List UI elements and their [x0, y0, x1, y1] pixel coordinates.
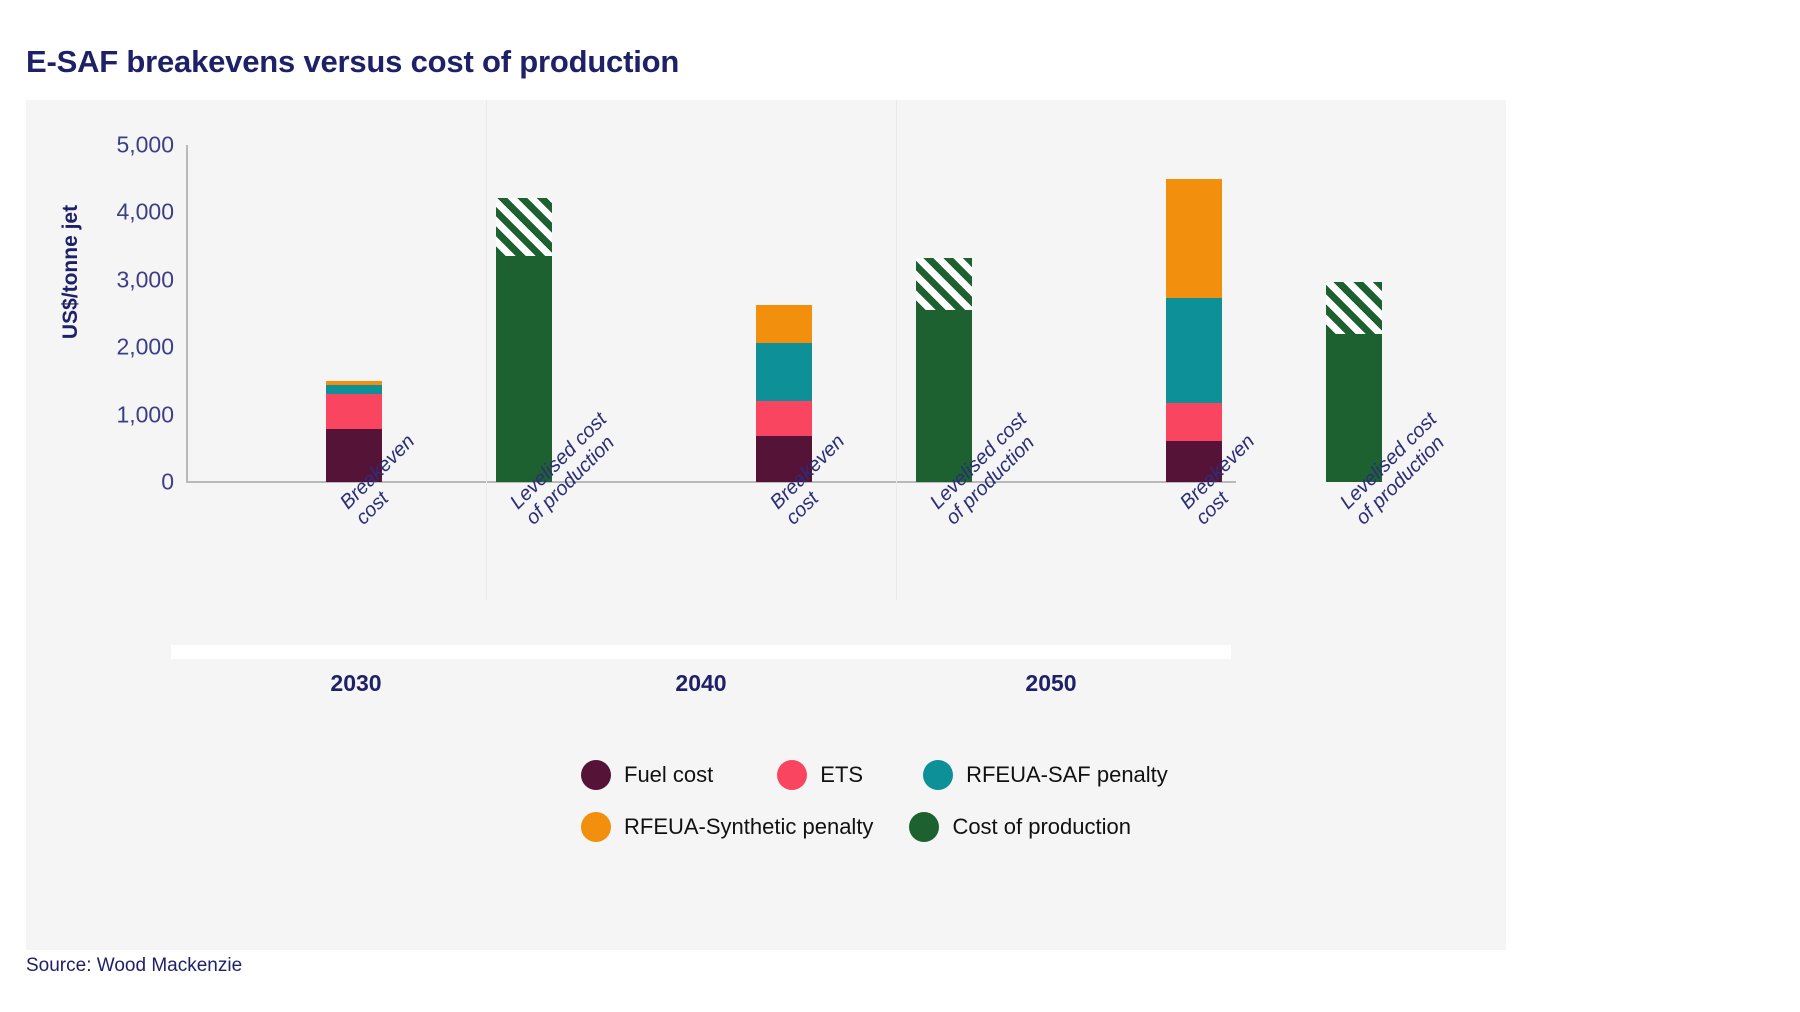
- bar-2030-levelised-cost-of-production[interactable]: [496, 198, 552, 482]
- legend-swatch-rfeua_synthetic-icon: [581, 812, 611, 842]
- legend-item-ets[interactable]: ETS: [777, 760, 863, 790]
- legend-swatch-rfeua_saf-icon: [923, 760, 953, 790]
- legend-label: RFEUA-Synthetic penalty: [624, 814, 873, 840]
- bar-segment-rfeua_saf[interactable]: [756, 343, 812, 401]
- y-axis-ticks: 5,0004,0003,0002,0001,0000: [74, 100, 174, 600]
- bar-segment-ets[interactable]: [1166, 403, 1222, 441]
- legend-label: Fuel cost: [624, 762, 713, 788]
- y-axis-tick: 5,000: [74, 132, 174, 159]
- chart-page: E-SAF breakevens versus cost of producti…: [0, 0, 1800, 1012]
- legend-item-fuel_cost[interactable]: Fuel cost: [581, 760, 713, 790]
- y-axis-tick: 4,000: [74, 199, 174, 226]
- bar-segment-rfeua_saf[interactable]: [326, 385, 382, 394]
- legend-row: RFEUA-Synthetic penaltyCost of productio…: [581, 812, 1261, 842]
- legend-label: RFEUA-SAF penalty: [966, 762, 1168, 788]
- bars-layer: [186, 145, 1246, 482]
- y-axis-tick: 0: [74, 469, 174, 496]
- bar-segment-rfeua_synthetic[interactable]: [1166, 179, 1222, 298]
- legend-item-rfeua_saf[interactable]: RFEUA-SAF penalty: [923, 760, 1168, 790]
- y-axis-tick: 3,000: [74, 266, 174, 293]
- bar-segment-ets[interactable]: [756, 401, 812, 436]
- legend-swatch-cost_of_production-icon: [909, 812, 939, 842]
- bar-segment-cost_of_production_range[interactable]: [496, 198, 552, 257]
- bar-segment-cost_of_production_range[interactable]: [916, 258, 972, 311]
- chart-legend: Fuel costETSRFEUA-SAF penaltyRFEUA-Synth…: [581, 760, 1261, 864]
- legend-item-rfeua_synthetic[interactable]: RFEUA-Synthetic penalty: [581, 812, 873, 842]
- bar-segment-cost_of_production_range[interactable]: [1326, 282, 1382, 334]
- legend-row: Fuel costETSRFEUA-SAF penalty: [581, 760, 1261, 790]
- group-label-2040: 2040: [601, 670, 801, 697]
- legend-item-cost_of_production[interactable]: Cost of production: [909, 812, 1131, 842]
- group-label-2030: 2030: [256, 670, 456, 697]
- bar-segment-rfeua_saf[interactable]: [1166, 298, 1222, 403]
- plot-area: US$/tonne jet 5,0004,0003,0002,0001,0000: [26, 100, 1506, 600]
- bar-segment-rfeua_synthetic[interactable]: [756, 305, 812, 343]
- bar-segment-ets[interactable]: [326, 394, 382, 429]
- legend-swatch-ets-icon: [777, 760, 807, 790]
- chart-panel: US$/tonne jet 5,0004,0003,0002,0001,0000…: [26, 100, 1506, 950]
- bar-2050-levelised-cost-of-production[interactable]: [1326, 282, 1382, 482]
- y-axis-tick: 2,000: [74, 334, 174, 361]
- bar-segment-cost_of_production[interactable]: [916, 310, 972, 482]
- source-note: Source: Wood Mackenzie: [26, 955, 242, 977]
- bar-2050-breakeven-cost[interactable]: [1166, 179, 1222, 482]
- bar-segment-cost_of_production[interactable]: [496, 256, 552, 482]
- y-axis-tick: 1,000: [74, 401, 174, 428]
- legend-swatch-fuel_cost-icon: [581, 760, 611, 790]
- legend-label: Cost of production: [952, 814, 1131, 840]
- group-axis-strip: [171, 645, 1231, 659]
- group-label-2050: 2050: [951, 670, 1151, 697]
- page-title: E-SAF breakevens versus cost of producti…: [26, 44, 679, 80]
- legend-label: ETS: [820, 762, 863, 788]
- bar-2040-breakeven-cost[interactable]: [756, 305, 812, 482]
- bar-2040-levelised-cost-of-production[interactable]: [916, 258, 972, 482]
